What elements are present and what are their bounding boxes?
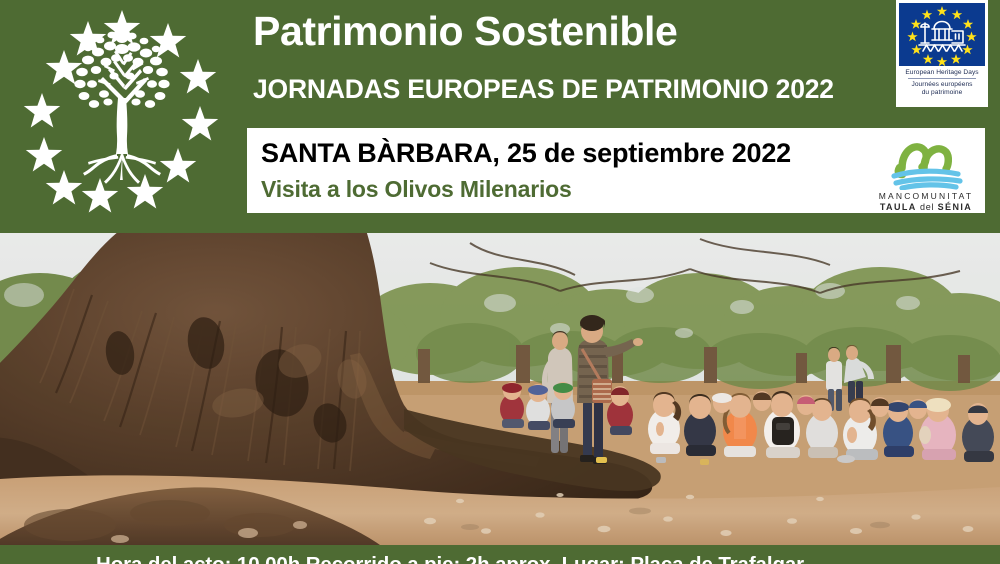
mancomunitat-line-2: TAULA del SÉNIA [872,202,980,212]
header-band: Patrimonio Sostenible JORNADAS EUROPEAS … [0,0,1000,233]
mancomunitat-senia: SÉNIA [938,202,973,212]
info-box: SANTA BÀRBARA, 25 de septiembre 2022 Vis… [247,128,985,213]
poster-root: Patrimonio Sostenible JORNADAS EUROPEAS … [0,0,1000,564]
mancomunitat-taula: TAULA [880,202,917,212]
footer-band: Hora del acto: 10.00h Recorrido a pie: 2… [0,545,1000,564]
event-activity: Visita a los Olivos Milenarios [261,176,572,203]
footer-details: Hora del acto: 10.00h Recorrido a pie: 2… [96,553,804,564]
ehd-label-french-2: du patrimoine [899,89,985,96]
mancomunitat-line-1: MANCOMUNITAT [872,191,980,201]
mancomunitat-del: del [917,202,938,212]
page-title: Patrimonio Sostenible [253,9,677,54]
ehd-label-english: European Heritage Days [899,69,985,76]
eu-flag-building-icon [899,3,985,66]
event-place-and-date: SANTA BÀRBARA, 25 de septiembre 2022 [261,138,791,169]
ancient-olive-tree-photo [0,233,1000,545]
european-heritage-tree-emblem-icon [22,2,222,224]
mancomunitat-logo: MANCOMUNITAT TAULA del SÉNIA [872,134,980,208]
page-subtitle: JORNADAS EUROPEAS DE PATRIMONIO 2022 [253,74,834,105]
european-heritage-days-logo: European Heritage Days Journées européen… [896,0,988,107]
ehd-divider [908,78,976,79]
ehd-label-french-1: Journées européens [899,81,985,88]
